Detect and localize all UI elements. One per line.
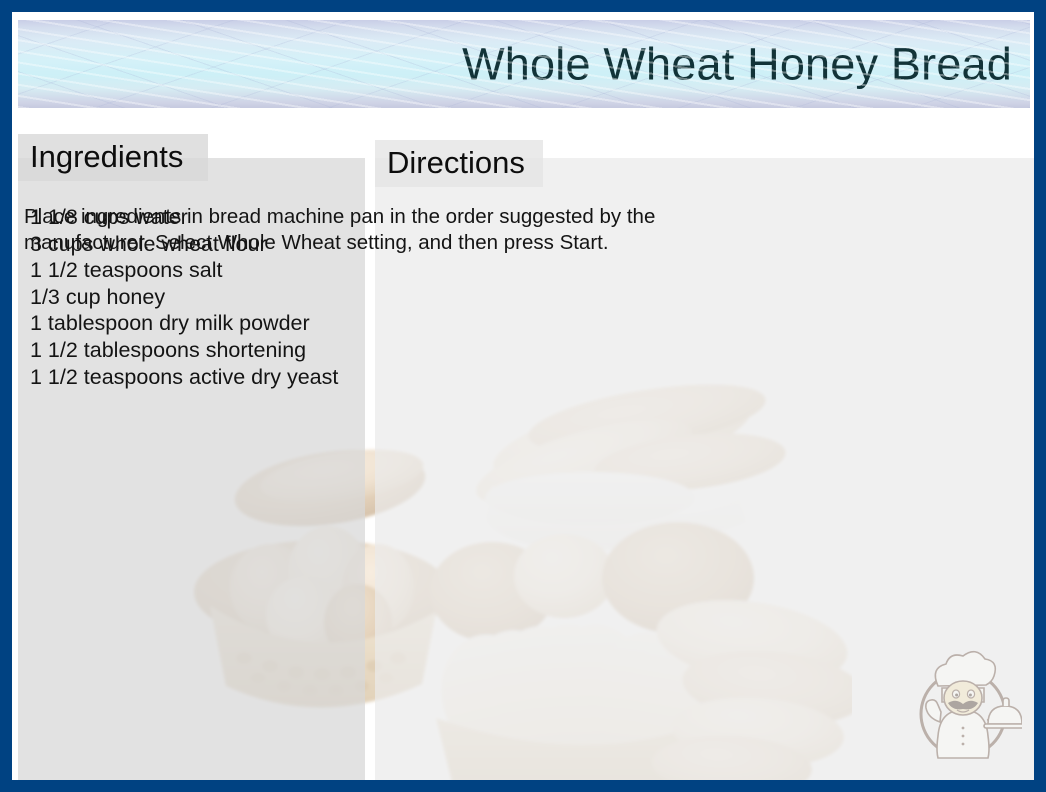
- slide-content-area: Whole Wheat Honey Bread: [12, 12, 1034, 780]
- chef-mascot-logo: [904, 648, 1022, 766]
- recipe-slide: Whole Wheat Honey Bread: [0, 0, 1046, 792]
- list-item: 1 1/2 teaspoons salt: [30, 257, 360, 284]
- content-panels: Ingredients 1 1/8 cups water 3 cups whol…: [12, 116, 1034, 780]
- directions-body-text: Place ingredients in bread machine pan i…: [24, 204, 664, 256]
- title-banner: Whole Wheat Honey Bread: [18, 20, 1030, 108]
- list-item: 1/3 cup honey: [30, 284, 360, 311]
- tab-ingredients[interactable]: Ingredients: [18, 134, 208, 181]
- list-item: 1 1/2 tablespoons shortening: [30, 337, 360, 364]
- tab-directions[interactable]: Directions: [375, 140, 543, 187]
- page-title: Whole Wheat Honey Bread: [462, 40, 1012, 87]
- list-item: 1 tablespoon dry milk powder: [30, 310, 360, 337]
- list-item: 1 1/2 teaspoons active dry yeast: [30, 364, 360, 391]
- ingredients-heading: Ingredients: [30, 139, 183, 174]
- directions-heading: Directions: [387, 145, 525, 180]
